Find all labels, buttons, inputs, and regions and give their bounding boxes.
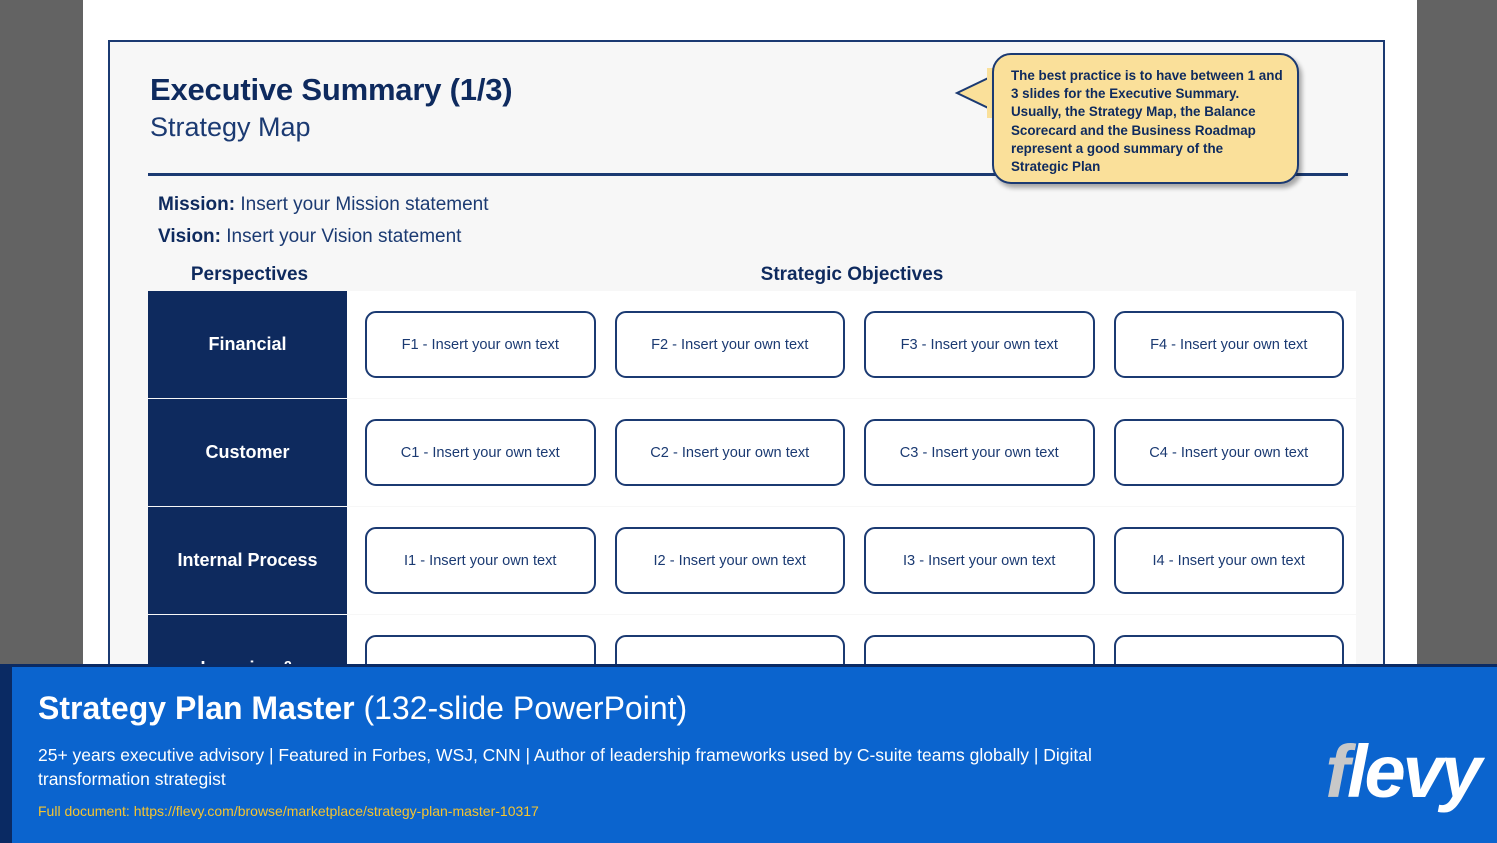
matrix-row: FinancialF1 - Insert your own textF2 - I… — [148, 291, 1356, 398]
strategy-map-matrix: FinancialF1 - Insert your own textF2 - I… — [148, 291, 1356, 679]
mission-vision-block: Mission: Insert your Mission statement V… — [158, 189, 489, 253]
mission-value: Insert your Mission statement — [240, 194, 488, 215]
callout-text: The best practice is to have between 1 a… — [1011, 67, 1284, 176]
column-header-objectives: Strategic Objectives — [349, 264, 1355, 286]
page-subtitle: Strategy Map — [150, 111, 512, 144]
objective-box[interactable]: I4 - Insert your own text — [1114, 527, 1345, 594]
slide-title-block: Executive Summary (1/3) Strategy Map — [150, 72, 512, 144]
matrix-row: Internal ProcessI1 - Insert your own tex… — [148, 507, 1356, 614]
objective-box[interactable]: C4 - Insert your own text — [1114, 419, 1345, 486]
slide-canvas: Executive Summary (1/3) Strategy Map Mis… — [108, 40, 1385, 679]
objective-box[interactable]: I1 - Insert your own text — [365, 527, 596, 594]
perspective-cell[interactable]: Internal Process — [148, 507, 347, 614]
promo-title: Strategy Plan Master (132-slide PowerPoi… — [38, 691, 1138, 726]
objective-band: C1 - Insert your own textC2 - Insert you… — [347, 399, 1356, 506]
best-practice-callout: The best practice is to have between 1 a… — [947, 53, 1307, 198]
objective-box[interactable]: C3 - Insert your own text — [864, 419, 1095, 486]
objective-box[interactable]: C1 - Insert your own text — [365, 419, 596, 486]
vision-line: Vision: Insert your Vision statement — [158, 221, 489, 253]
flevy-logo-levy: levy — [1347, 730, 1479, 813]
promo-description: 25+ years executive advisory | Featured … — [38, 743, 1138, 791]
promo-title-light: (132-slide PowerPoint) — [355, 690, 688, 726]
promo-text-block: Strategy Plan Master (132-slide PowerPoi… — [38, 691, 1138, 821]
perspective-cell[interactable]: Financial — [148, 291, 347, 398]
callout-box: The best practice is to have between 1 a… — [992, 53, 1299, 184]
objective-band: F1 - Insert your own textF2 - Insert you… — [347, 291, 1356, 398]
mission-label: Mission: — [158, 194, 235, 215]
vision-value: Insert your Vision statement — [226, 226, 461, 247]
objective-box[interactable]: F2 - Insert your own text — [615, 311, 846, 378]
flevy-logo-f: f — [1325, 730, 1347, 813]
objective-box[interactable]: F3 - Insert your own text — [864, 311, 1095, 378]
mission-line: Mission: Insert your Mission statement — [158, 189, 489, 221]
promo-document-url[interactable]: Full document: https://flevy.com/browse/… — [38, 802, 1138, 820]
objective-box[interactable]: I3 - Insert your own text — [864, 527, 1095, 594]
objective-box[interactable]: F4 - Insert your own text — [1114, 311, 1345, 378]
column-header-perspectives: Perspectives — [150, 264, 349, 286]
page-title: Executive Summary (1/3) — [150, 72, 512, 109]
promo-title-strong: Strategy Plan Master — [38, 690, 355, 726]
vision-label: Vision: — [158, 226, 221, 247]
matrix-row: CustomerC1 - Insert your own textC2 - In… — [148, 399, 1356, 506]
objective-box[interactable]: F1 - Insert your own text — [365, 311, 596, 378]
objective-box[interactable]: I2 - Insert your own text — [615, 527, 846, 594]
objective-band: I1 - Insert your own textI2 - Insert you… — [347, 507, 1356, 614]
flevy-logo[interactable]: flevy — [1325, 735, 1479, 809]
objective-box[interactable]: C2 - Insert your own text — [615, 419, 846, 486]
promo-banner: Strategy Plan Master (132-slide PowerPoi… — [0, 664, 1497, 843]
perspective-cell[interactable]: Customer — [148, 399, 347, 506]
